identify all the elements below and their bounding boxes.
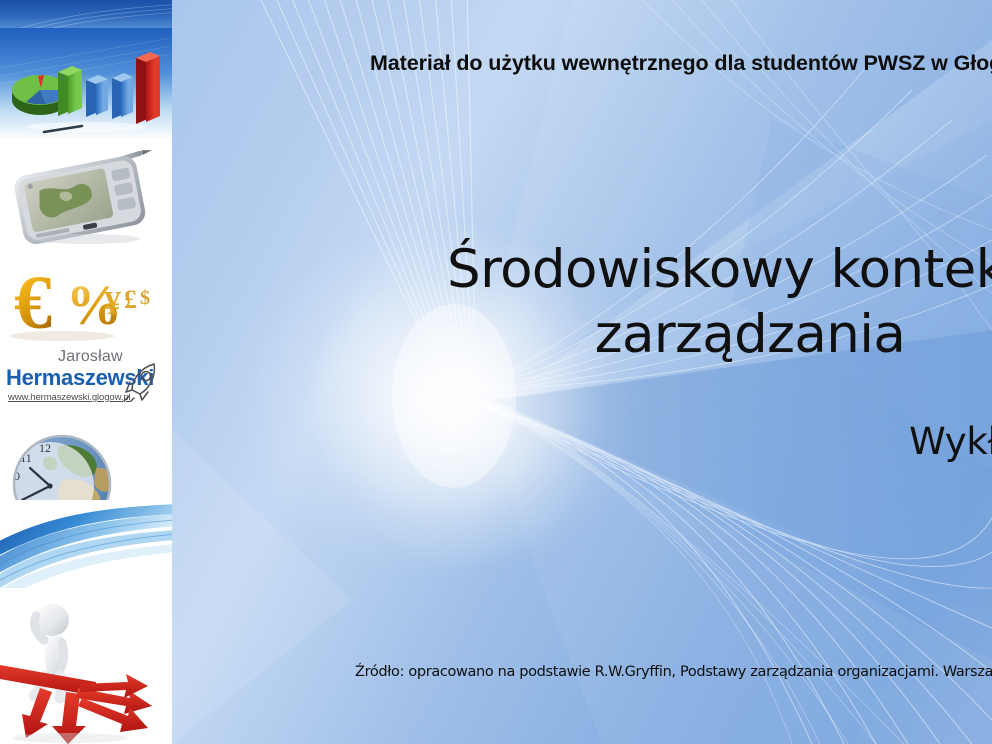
presentation-slide: Materiał do użytku wewnętrznego dla stud… — [0, 0, 992, 744]
logo-website-link[interactable]: www.hermaszewski.glogow.pl — [8, 392, 131, 403]
bar-chart-3d-image — [0, 28, 172, 140]
svg-text:12: 12 — [39, 441, 51, 455]
title-line-2: zarządzania — [400, 303, 992, 368]
svg-text:$: $ — [140, 287, 150, 309]
rocket-icon — [120, 358, 166, 402]
euro-percent-image: € % ¥ £ $ — [0, 250, 172, 346]
pda-device-image — [0, 138, 172, 248]
svg-text:£: £ — [124, 285, 137, 314]
logo-first-name: Jarosław — [58, 348, 123, 366]
svg-text:¥: ¥ — [104, 285, 121, 322]
title-line-1: Środowiskowy kontekst — [400, 238, 992, 303]
page-title: Środowiskowy kontekst zarządzania — [400, 238, 992, 367]
author-logo[interactable]: Jarosław Hermaszewski www.hermaszewski.g… — [0, 346, 172, 420]
left-image-sidebar: € % ¥ £ $ Jarosław Hermaszewski www.herm… — [0, 0, 172, 744]
decision-arrows-image — [0, 588, 172, 744]
source-citation: Źródło: opracowano na podstawie R.W.Gryf… — [355, 664, 992, 680]
slide-header-note: Materiał do użytku wewnętrznego dla stud… — [370, 51, 992, 76]
lecture-subtitle: Wykład 3 — [400, 420, 992, 463]
background-pattern — [172, 0, 992, 744]
slide-background-panel: Materiał do użytku wewnętrznego dla stud… — [172, 0, 992, 744]
